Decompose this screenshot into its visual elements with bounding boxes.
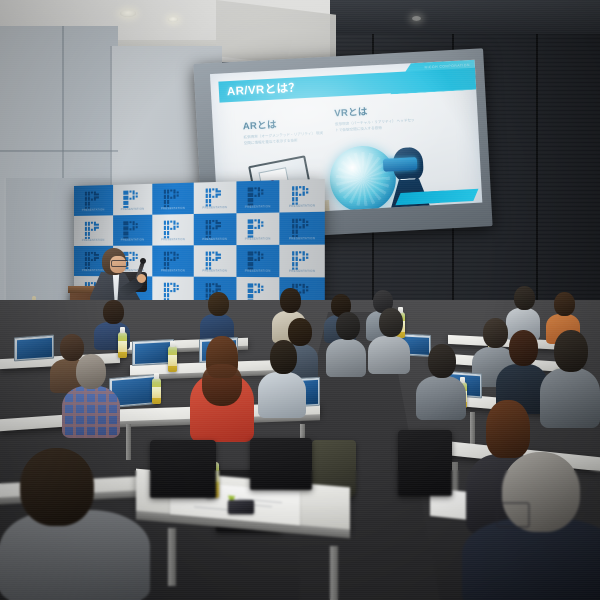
audience-member: [368, 308, 410, 372]
audience-head: [486, 400, 530, 458]
wall-seam: [0, 150, 118, 152]
audience-hair: [202, 364, 242, 406]
vr-headset-globe-icon: [326, 138, 436, 217]
green-tea-bottle: [168, 346, 177, 372]
audience-head: [103, 300, 124, 324]
audience-member: [190, 336, 254, 440]
seminar-room-photo: RICOH CORPORATION AR/VRとは？ ARとは 拡張現実（オーグ…: [0, 0, 600, 600]
audience-member: [62, 354, 120, 434]
slide-heading-ar: ARとは: [242, 114, 325, 132]
vr-goggles-icon: [383, 157, 418, 172]
audience-torso: [368, 336, 410, 374]
slide-column-vr: VRとは 仮想現実（バーチャル・リアリティ） ヘッドセットで仮想空間に没入する技…: [334, 101, 417, 134]
audience-head: [379, 308, 403, 337]
chair: [250, 438, 312, 490]
audience-member: [0, 448, 150, 600]
presenter-hand: [137, 274, 146, 283]
slide-heading-vr: VRとは: [334, 101, 417, 119]
laptop-lid: [14, 335, 54, 362]
audience-head: [208, 292, 229, 316]
audience-torso: [258, 372, 306, 418]
smartphone[interactable]: [228, 500, 254, 514]
slide-column-ar: ARとは 拡張現実（オーグメンテッド・リアリティ） 現実空間に情報を重ねて表示す…: [242, 114, 325, 147]
audience-head: [428, 344, 456, 378]
audience-member: [258, 340, 306, 416]
audience-member: [416, 344, 466, 418]
downlight-icon: [412, 16, 421, 21]
audience-head: [20, 448, 94, 526]
audience-member: [200, 292, 234, 342]
audience-member: [326, 312, 366, 374]
slide-body-ar: 拡張現実（オーグメンテッド・リアリティ） 現実空間に情報を重ねて表示する技術: [243, 131, 326, 147]
audience-torso: [326, 339, 366, 377]
green-tea-bottle: [152, 378, 161, 404]
chair: [150, 440, 216, 498]
microphone-head-icon: [140, 258, 146, 264]
audience-torso: [416, 376, 466, 420]
desk-leg: [168, 528, 176, 586]
audience-head: [280, 288, 301, 313]
audience-member: [462, 452, 600, 600]
plaid-pattern: [62, 386, 120, 438]
audience-torso: [540, 368, 600, 428]
audience-head: [554, 330, 588, 372]
audience-torso: [0, 510, 150, 600]
downlight-icon: [168, 17, 178, 22]
audience-head: [514, 286, 535, 310]
downlight-icon: [120, 10, 136, 17]
chair: [398, 430, 452, 496]
audience-member: [540, 330, 600, 424]
audience-head: [554, 292, 575, 316]
desk-leg: [330, 546, 338, 600]
audience-head: [76, 354, 106, 389]
glasses-icon: [496, 502, 530, 528]
slide-body-vr: 仮想現実（バーチャル・リアリティ） ヘッドセットで仮想空間に没入する技術: [335, 118, 418, 134]
glasses-icon: [111, 260, 128, 267]
laptop-screen: [135, 342, 172, 364]
audience-head: [509, 330, 538, 366]
laptop-screen: [17, 337, 52, 358]
audience-head: [270, 340, 297, 374]
audience-head: [336, 312, 360, 340]
